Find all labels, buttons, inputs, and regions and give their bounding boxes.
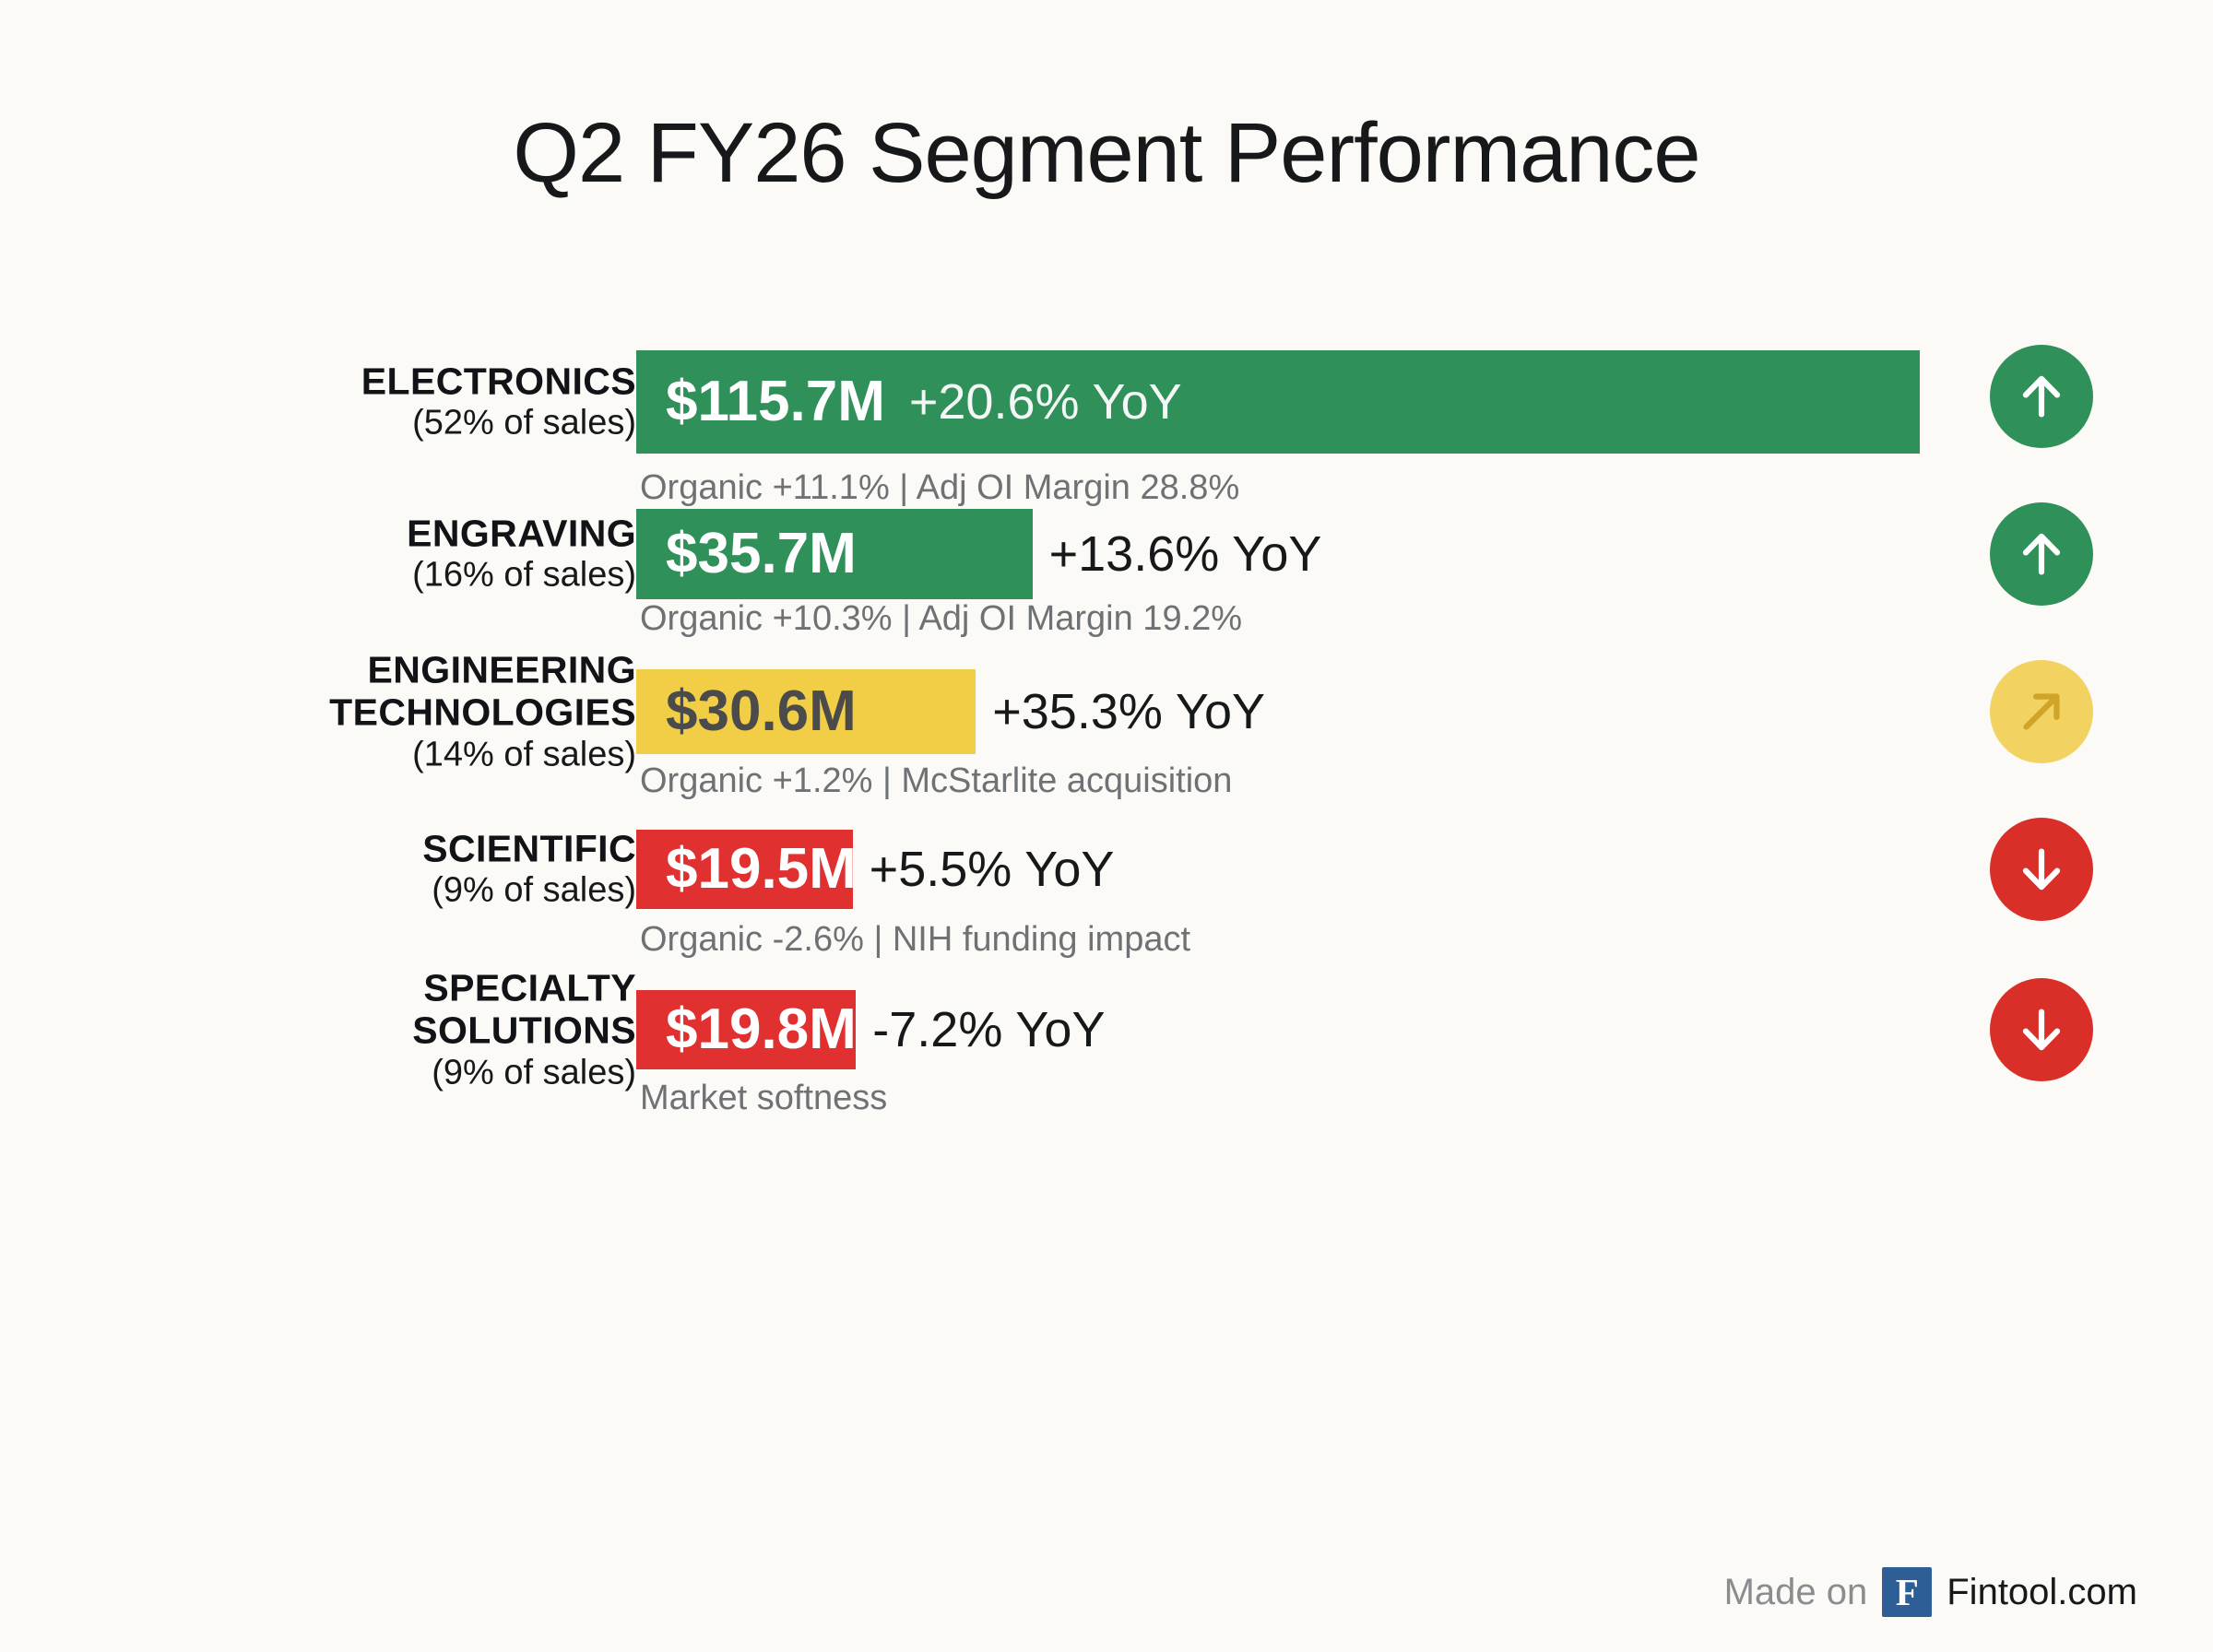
segment-name: SCIENTIFIC bbox=[0, 827, 636, 869]
segment-share-of-sales: (52% of sales) bbox=[0, 403, 636, 444]
segment-share-of-sales: (9% of sales) bbox=[0, 1052, 636, 1093]
segment-performance-chart: ELECTRONICS(52% of sales)$115.7M+20.6% Y… bbox=[0, 350, 2213, 1180]
segment-note: Organic +1.2% | McStarlite acquisition bbox=[640, 763, 1232, 798]
arrow-up-icon[interactable] bbox=[1990, 345, 2093, 448]
segment-label-block: ENGRAVING(16% of sales) bbox=[0, 512, 636, 596]
segment-revenue-value: $19.5M bbox=[636, 841, 881, 898]
arrow-up-icon[interactable] bbox=[1990, 502, 2093, 606]
segment-bar-line: $35.7M+13.6% YoY bbox=[636, 509, 1321, 599]
segment-note: Organic +10.3% | Adj OI Margin 19.2% bbox=[640, 601, 1242, 636]
page-title: Q2 FY26 Segment Performance bbox=[0, 109, 2213, 198]
segment-bar-line: $19.8M-7.2% YoY bbox=[636, 990, 1105, 1069]
arrow-down-icon[interactable] bbox=[1990, 978, 2093, 1081]
segment-share-of-sales: (9% of sales) bbox=[0, 870, 636, 912]
segment-revenue-value: $19.8M bbox=[636, 1001, 881, 1058]
segment-label-block: ELECTRONICS(52% of sales) bbox=[0, 360, 636, 443]
segment-bar[interactable]: $19.5M bbox=[636, 830, 853, 909]
infographic-canvas: Q2 FY26 Segment Performance ELECTRONICS(… bbox=[0, 0, 2213, 1652]
segment-revenue-value: $30.6M bbox=[636, 683, 881, 740]
segment-yoy-change: -7.2% YoY bbox=[856, 1005, 1105, 1055]
arrow-up-right-icon[interactable] bbox=[1990, 660, 2093, 763]
made-on-label: Made on bbox=[1724, 1574, 1883, 1611]
segment-label-block: SCIENTIFIC(9% of sales) bbox=[0, 827, 636, 911]
segment-label-block: ENGINEERING TECHNOLOGIES(14% of sales) bbox=[0, 648, 636, 774]
segment-bar-line: $19.5M+5.5% YoY bbox=[636, 830, 1114, 909]
segment-note: Organic -2.6% | NIH funding impact bbox=[640, 922, 1190, 957]
segment-note: Organic +11.1% | Adj OI Margin 28.8% bbox=[640, 470, 1239, 505]
segment-note: Market softness bbox=[640, 1080, 887, 1115]
segment-bar[interactable]: $115.7M+20.6% YoY bbox=[636, 350, 1920, 454]
segment-revenue-value: $35.7M bbox=[636, 525, 881, 583]
segment-share-of-sales: (16% of sales) bbox=[0, 555, 636, 596]
fintool-logo-icon: F bbox=[1882, 1567, 1932, 1617]
segment-bar[interactable]: $35.7M bbox=[636, 509, 1033, 599]
segment-bar[interactable]: $30.6M bbox=[636, 669, 976, 754]
segment-name: ELECTRONICS bbox=[0, 360, 636, 402]
segment-label-block: SPECIALTY SOLUTIONS(9% of sales) bbox=[0, 966, 636, 1092]
arrow-down-icon[interactable] bbox=[1990, 818, 2093, 921]
segment-bar-line: $115.7M+20.6% YoY bbox=[636, 350, 1920, 454]
segment-name: SPECIALTY SOLUTIONS bbox=[0, 966, 636, 1052]
segment-yoy-change: +5.5% YoY bbox=[853, 844, 1115, 894]
segment-revenue-value: $115.7M bbox=[636, 373, 909, 431]
segment-share-of-sales: (14% of sales) bbox=[0, 734, 636, 775]
segment-yoy-change: +13.6% YoY bbox=[1033, 529, 1322, 579]
segment-yoy-change: +20.6% YoY bbox=[909, 377, 1201, 427]
fintool-brand-label[interactable]: Fintool.com bbox=[1932, 1574, 2137, 1611]
segment-bar-line: $30.6M+35.3% YoY bbox=[636, 669, 1265, 754]
segment-yoy-change: +35.3% YoY bbox=[976, 687, 1265, 737]
segment-bar[interactable]: $19.8M bbox=[636, 990, 856, 1069]
segment-name: ENGRAVING bbox=[0, 512, 636, 554]
segment-name: ENGINEERING TECHNOLOGIES bbox=[0, 648, 636, 734]
footer-attribution: Made on F Fintool.com bbox=[1724, 1567, 2137, 1617]
